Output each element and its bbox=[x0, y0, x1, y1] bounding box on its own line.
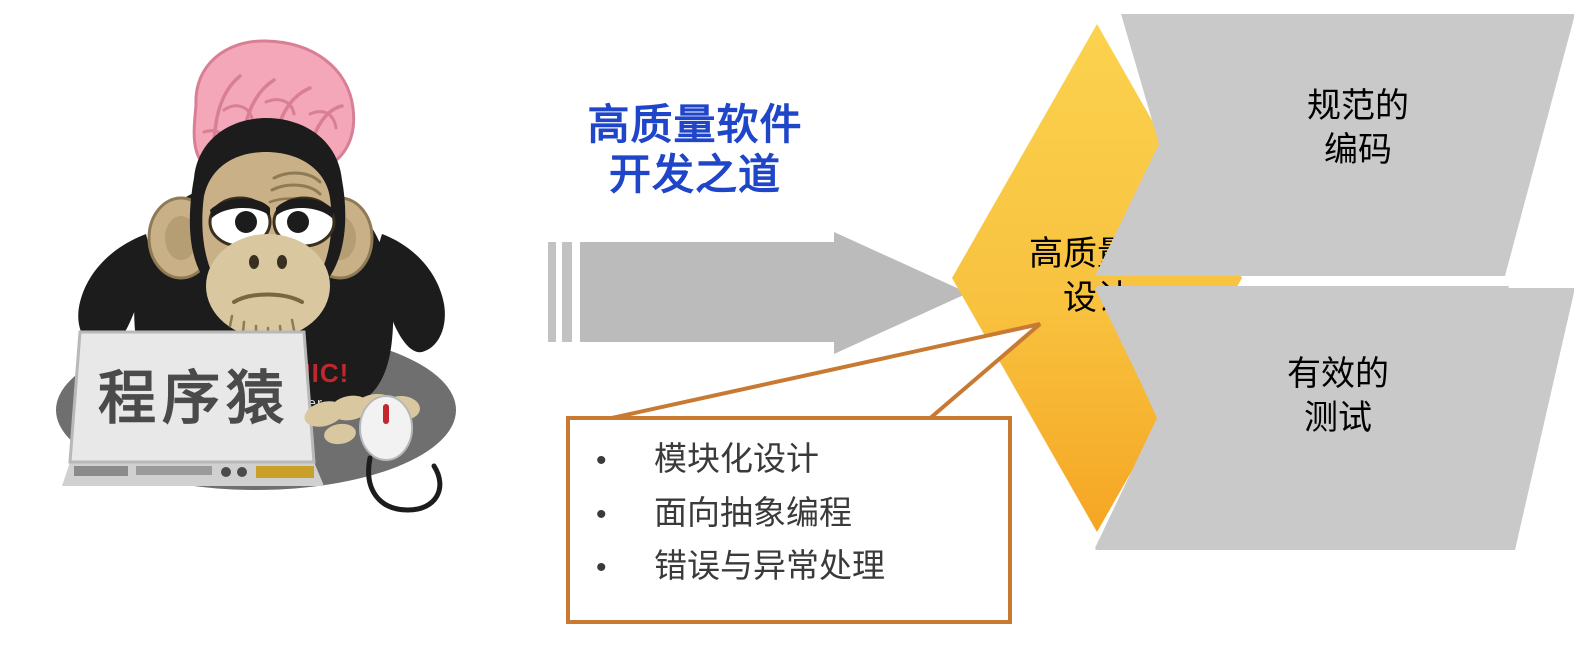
list-item: • 面向抽象编程 bbox=[596, 486, 996, 540]
bullet-icon: • bbox=[596, 437, 654, 486]
chevron-top-polygon bbox=[1095, 14, 1574, 276]
callout-list: • 模块化设计 • 面向抽象编程 • 错误与异常处理 bbox=[596, 432, 996, 593]
programmer-monkey-illustration: DON'T PANIC! I'm a programmer 程序猿 bbox=[18, 10, 488, 530]
laptop-screen-text: 程序猿 bbox=[98, 366, 290, 431]
headline-title: 高质量软件 开发之道 bbox=[560, 100, 830, 199]
list-item: • 模块化设计 bbox=[596, 432, 996, 486]
list-item-label: 错误与异常处理 bbox=[654, 539, 996, 592]
monkey-muzzle bbox=[206, 234, 330, 338]
chevron-bottom-shape bbox=[1095, 282, 1574, 554]
list-item: • 错误与异常处理 bbox=[596, 539, 996, 593]
list-item-label: 面向抽象编程 bbox=[654, 486, 996, 539]
arrow-trail-bar-1 bbox=[548, 242, 556, 342]
arrow-body bbox=[580, 232, 968, 354]
arrow-trail-bar-2 bbox=[562, 242, 572, 342]
bullet-icon: • bbox=[596, 491, 654, 540]
list-item-label: 模块化设计 bbox=[654, 432, 996, 485]
bullet-icon: • bbox=[596, 544, 654, 593]
flow-arrow bbox=[548, 232, 968, 354]
chevron-top-shape bbox=[1095, 14, 1574, 286]
slide-canvas: DON'T PANIC! I'm a programmer 程序猿 bbox=[0, 0, 1574, 652]
